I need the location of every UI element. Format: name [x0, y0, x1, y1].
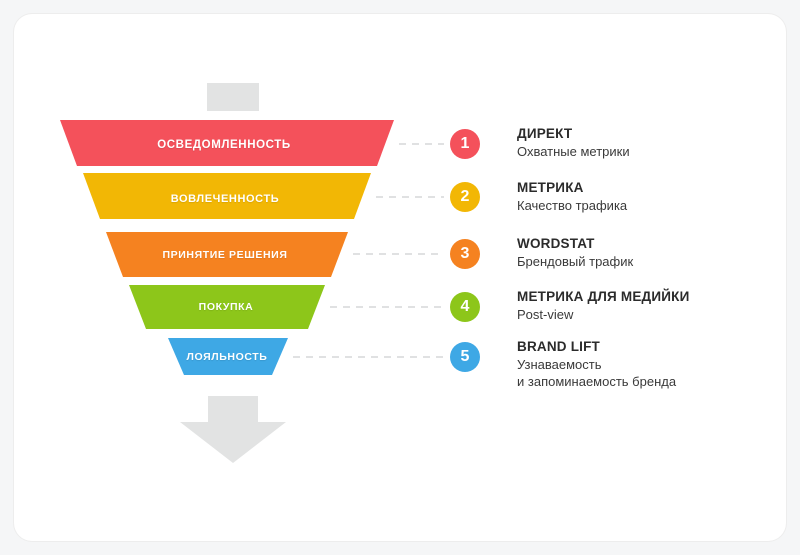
legend-row-5: BRAND LIFT Узнаваемость и запоминаемость…: [517, 339, 767, 391]
funnel-label-decision: ПРИНЯТИЕ РЕШЕНИЯ: [163, 249, 288, 261]
funnel-label-engagement: ВОВЛЕЧЕННОСТЬ: [171, 193, 280, 205]
stage-badge-1[interactable]: 1: [450, 129, 480, 159]
legend-desc-5-line-2: и запоминаемость бренда: [517, 374, 767, 391]
legend-desc-3: Брендовый трафик: [517, 254, 767, 271]
legend-title-2: МЕТРИКА: [517, 180, 767, 197]
legend-title-4: МЕТРИКА ДЛЯ МЕДИЙКИ: [517, 289, 767, 306]
legend-desc-1: Охватные метрики: [517, 144, 767, 161]
top-arrow-shaft: [207, 83, 259, 111]
bottom-arrow: [180, 396, 286, 463]
legend-desc-2: Качество трафика: [517, 198, 767, 215]
legend-row-1: ДИРЕКТ Охватные метрики: [517, 126, 767, 161]
funnel-label-loyalty: ЛОЯЛЬНОСТЬ: [187, 351, 268, 363]
legend-title-3: WORDSTAT: [517, 236, 767, 253]
legend-desc-3-line-1: Брендовый трафик: [517, 254, 767, 271]
legend-row-4: МЕТРИКА ДЛЯ МЕДИЙКИ Post-view: [517, 289, 767, 324]
funnel-diagram: ОСВЕДОМЛЕННОСТЬ ВОВЛЕЧЕННОСТЬ ПРИНЯТИЕ Р…: [0, 0, 800, 555]
stage-badge-2[interactable]: 2: [450, 182, 480, 212]
legend-desc-4: Post-view: [517, 307, 767, 324]
stage-badge-5[interactable]: 5: [450, 342, 480, 372]
legend-desc-2-line-1: Качество трафика: [517, 198, 767, 215]
legend-title-1: ДИРЕКТ: [517, 126, 767, 143]
legend-title-5: BRAND LIFT: [517, 339, 767, 356]
legend-desc-1-line-1: Охватные метрики: [517, 144, 767, 161]
legend-row-3: WORDSTAT Брендовый трафик: [517, 236, 767, 271]
legend-desc-5-line-1: Узнаваемость: [517, 357, 767, 374]
stage-badge-3[interactable]: 3: [450, 239, 480, 269]
funnel-shapes: [0, 0, 800, 555]
stage-badge-4[interactable]: 4: [450, 292, 480, 322]
legend-row-2: МЕТРИКА Качество трафика: [517, 180, 767, 215]
legend-desc-5: Узнаваемость и запоминаемость бренда: [517, 357, 767, 391]
legend-desc-4-line-1: Post-view: [517, 307, 767, 324]
funnel-label-awareness: ОСВЕДОМЛЕННОСТЬ: [157, 139, 291, 151]
funnel-label-purchase: ПОКУПКА: [199, 301, 254, 313]
